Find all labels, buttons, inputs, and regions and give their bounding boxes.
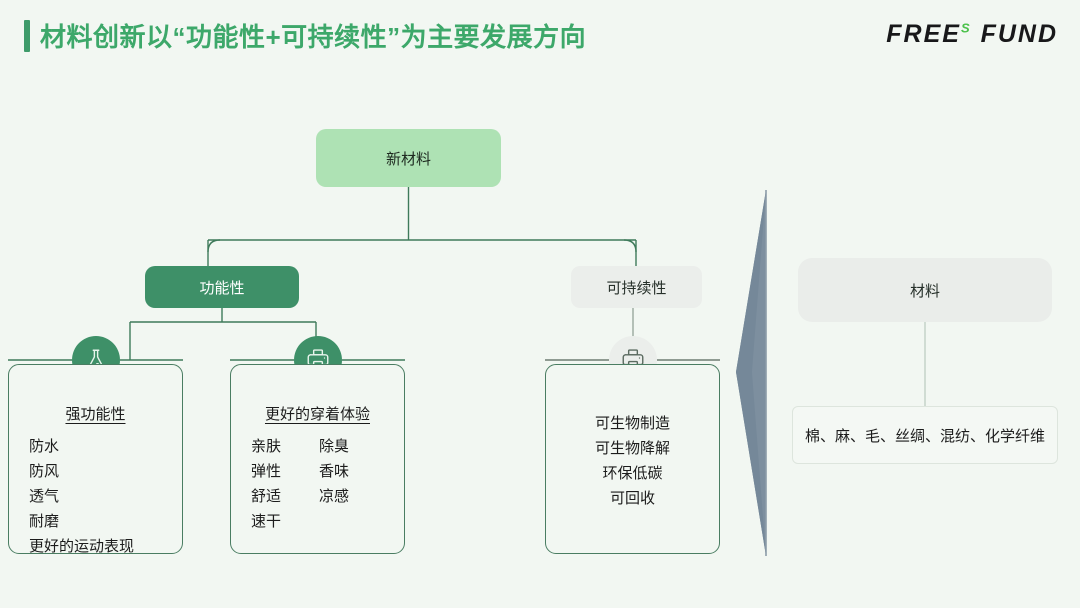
list-item: 环保低碳 bbox=[546, 461, 719, 486]
node-functionality[interactable]: 功能性 bbox=[145, 266, 299, 308]
card-item-list: 防水 防风 透气 耐磨 更好的运动表现 bbox=[9, 434, 182, 559]
list-item: 舒适 bbox=[251, 484, 281, 509]
card-item-list: 可生物制造 可生物降解 环保低碳 可回收 bbox=[546, 411, 719, 511]
card-item-column-right: 除臭 香味 凉感 bbox=[319, 434, 349, 534]
card-heading: 更好的穿着体验 bbox=[231, 403, 404, 424]
brand-logo: FREES FUND bbox=[886, 20, 1058, 49]
node-sustainability-label: 可持续性 bbox=[606, 277, 666, 298]
list-item: 透气 bbox=[29, 484, 182, 509]
list-item: 可回收 bbox=[546, 486, 719, 511]
list-item: 亲肤 bbox=[251, 434, 281, 459]
card-wearing-experience[interactable]: 更好的穿着体验 亲肤 弹性 舒适 速干 除臭 香味 凉感 bbox=[230, 364, 405, 554]
card-item-columns: 亲肤 弹性 舒适 速干 除臭 香味 凉感 bbox=[231, 434, 404, 534]
slide-canvas: 材料创新以“功能性+可持续性”为主要发展方向 FREES FUND bbox=[0, 0, 1080, 608]
list-item: 防水 bbox=[29, 434, 182, 459]
logo-main-text: FREE bbox=[886, 20, 961, 48]
left-chevron-divider bbox=[736, 190, 766, 556]
list-item: 更好的运动表现 bbox=[29, 534, 182, 559]
node-new-material-label: 新材料 bbox=[386, 148, 431, 169]
card-item-column-left: 亲肤 弹性 舒适 速干 bbox=[251, 434, 281, 534]
node-material-label: 材料 bbox=[910, 280, 940, 301]
list-item: 香味 bbox=[319, 459, 349, 484]
node-functionality-label: 功能性 bbox=[199, 277, 244, 298]
list-item: 可生物制造 bbox=[546, 411, 719, 436]
card-strong-functionality[interactable]: 强功能性 防水 防风 透气 耐磨 更好的运动表现 bbox=[8, 364, 183, 554]
list-item: 防风 bbox=[29, 459, 182, 484]
logo-tail-text: FUND bbox=[981, 20, 1058, 48]
material-types-label: 棉、麻、毛、丝绸、混纺、化学纤维 bbox=[805, 425, 1045, 446]
list-item: 凉感 bbox=[319, 484, 349, 509]
node-material[interactable]: 材料 bbox=[798, 258, 1052, 322]
material-types-box[interactable]: 棉、麻、毛、丝绸、混纺、化学纤维 bbox=[792, 406, 1058, 464]
node-sustainability[interactable]: 可持续性 bbox=[571, 266, 702, 308]
node-new-material[interactable]: 新材料 bbox=[316, 129, 501, 187]
list-item: 速干 bbox=[251, 509, 281, 534]
list-item: 弹性 bbox=[251, 459, 281, 484]
title-accent-bar bbox=[24, 20, 30, 52]
list-item: 可生物降解 bbox=[546, 436, 719, 461]
list-item: 除臭 bbox=[319, 434, 349, 459]
list-item: 耐磨 bbox=[29, 509, 182, 534]
page-title: 材料创新以“功能性+可持续性”为主要发展方向 bbox=[40, 17, 586, 54]
card-sustainability-traits[interactable]: 可生物制造 可生物降解 环保低碳 可回收 bbox=[545, 364, 720, 554]
slide-header: 材料创新以“功能性+可持续性”为主要发展方向 FREES FUND bbox=[0, 0, 1080, 76]
card-heading: 强功能性 bbox=[9, 403, 182, 424]
logo-superscript: S bbox=[961, 21, 972, 36]
